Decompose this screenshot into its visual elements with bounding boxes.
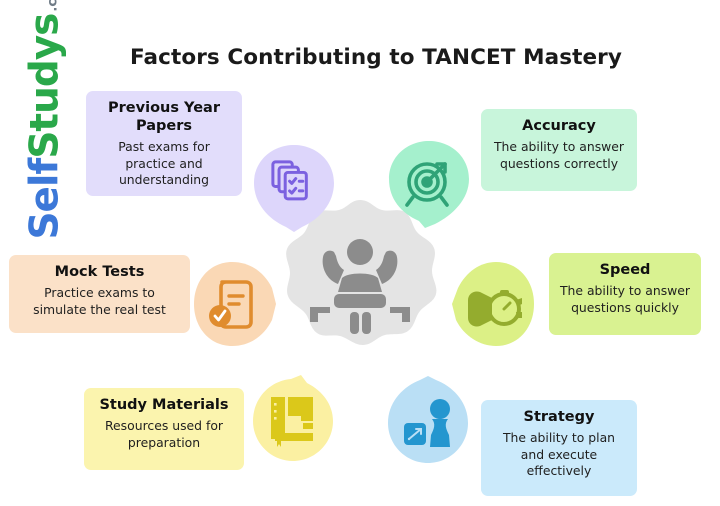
selfstudys-logo: SelfStudys .com (10, 18, 80, 198)
logo-text-self: Self (23, 159, 68, 240)
card-description: The ability to answer questions quickly (559, 283, 691, 316)
card-description: The ability to answer questions correctl… (491, 139, 627, 172)
petal-accuracy (385, 137, 473, 229)
card-title: Accuracy (491, 118, 627, 136)
card-description: The ability to plan and execute effectiv… (491, 430, 627, 480)
card-title: Speed (559, 262, 691, 280)
card-title: Previous Year Papers (96, 100, 232, 136)
card-title: Study Materials (94, 397, 234, 415)
petal-speed (450, 258, 538, 350)
card-description: Past exams for practice and understandin… (96, 139, 232, 189)
page-title: Factors Contributing to TANCET Mastery (96, 45, 656, 70)
card-study-materials[interactable]: Study Materials Resources used for prepa… (84, 388, 244, 470)
infographic-canvas: SelfStudys .com Factors Contributing to … (0, 0, 720, 506)
card-previous-year-papers[interactable]: Previous Year Papers Past exams for prac… (86, 91, 242, 196)
petal-study-materials (249, 373, 337, 465)
card-description: Resources used for preparation (94, 418, 234, 451)
petal-mock-tests (190, 258, 278, 350)
card-speed[interactable]: Speed The ability to answer questions qu… (549, 253, 701, 335)
card-strategy[interactable]: Strategy The ability to plan and execute… (481, 400, 637, 496)
logo-text-studys: Studys (23, 14, 68, 159)
card-title: Strategy (491, 409, 627, 427)
card-description: Practice exams to simulate the real test (19, 285, 180, 318)
card-mock-tests[interactable]: Mock Tests Practice exams to simulate th… (9, 255, 190, 333)
petal-previous-year-papers (250, 141, 338, 233)
logo-text-dotcom: .com (47, 0, 60, 12)
card-accuracy[interactable]: Accuracy The ability to answer questions… (481, 109, 637, 191)
person-celebrating-at-desk-icon (294, 234, 426, 344)
petal-strategy (384, 375, 472, 467)
card-title: Mock Tests (19, 264, 180, 282)
